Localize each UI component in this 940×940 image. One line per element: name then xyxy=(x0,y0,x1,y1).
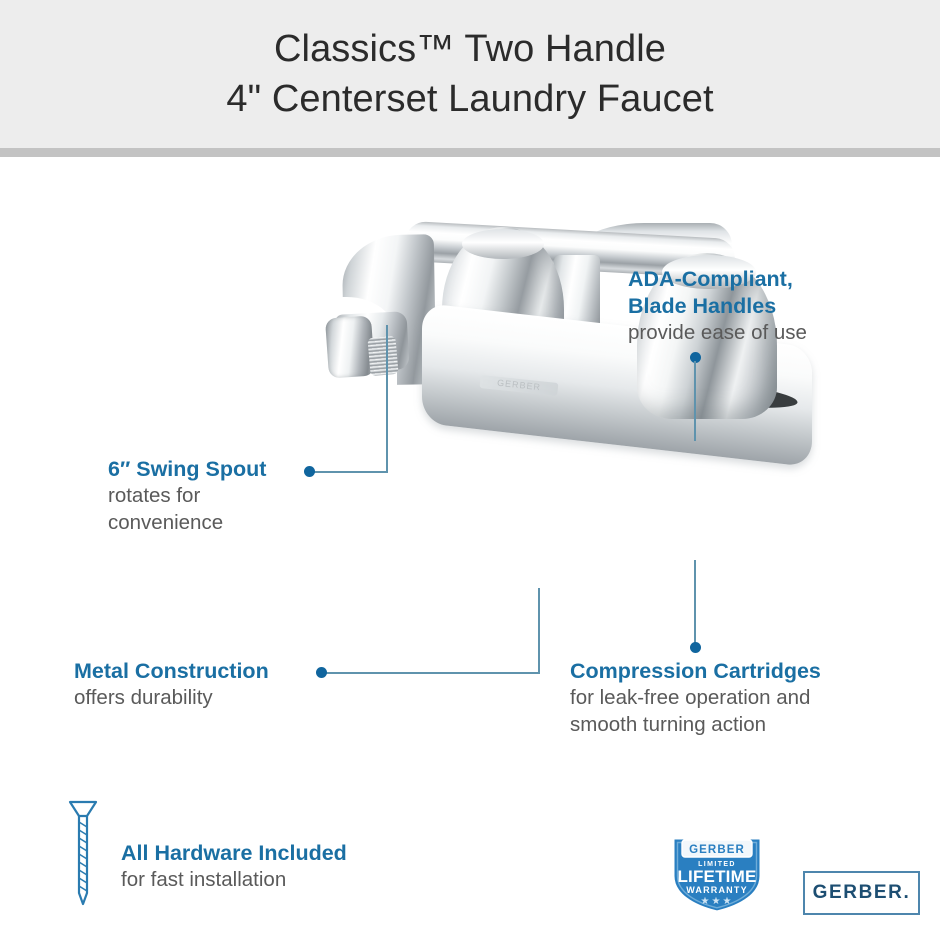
callout-sub-line-1: rotates for xyxy=(108,483,266,510)
gerber-logo-text: GERBER. xyxy=(813,882,911,904)
connector-segment-vertical xyxy=(694,361,696,441)
connector-dot-metal-construction xyxy=(316,667,327,678)
connector-metal-construction xyxy=(310,588,550,683)
connector-segment-vertical xyxy=(386,325,388,473)
gerber-logo: GERBER. xyxy=(803,871,920,915)
callout-heading-line-1: 6″ Swing Spout xyxy=(108,456,266,483)
lifetime-warranty-badge: GERBER LIMITED LIFETIME WARRANTY ★★★ xyxy=(668,832,766,916)
callout-heading-line-1: All Hardware Included xyxy=(121,840,347,867)
header-divider xyxy=(0,148,940,157)
badge-stars: ★★★ xyxy=(701,896,734,907)
connector-segment-vertical xyxy=(538,588,540,674)
callout-sub-line-1: provide ease of use xyxy=(628,320,807,347)
callout-compression-cartridges: Compression Cartridges for leak-free ope… xyxy=(570,658,821,738)
product-infographic: Classics™ Two Handle 4" Centerset Laundr… xyxy=(0,0,940,940)
callout-sub-line-1: for leak-free operation and xyxy=(570,685,821,712)
badge-lifetime-text: LIFETIME xyxy=(677,867,756,886)
page-title-line-1: Classics™ Two Handle xyxy=(274,24,666,74)
callout-heading-line-1: Metal Construction xyxy=(74,658,269,685)
connector-dot-compression-cartridges xyxy=(690,642,701,653)
badge-warranty-text: WARRANTY xyxy=(686,885,748,895)
connector-compression-cartridges xyxy=(690,560,704,658)
callout-swing-spout: 6″ Swing Spout rotates for convenience xyxy=(108,456,266,536)
page-title-text-2: 4" Centerset Laundry Faucet xyxy=(226,78,713,120)
connector-ada-handles xyxy=(690,352,704,442)
callout-heading-line-1: ADA-Compliant, xyxy=(628,266,807,293)
callout-heading-line-1: Compression Cartridges xyxy=(570,658,821,685)
connector-dot-swing-spout xyxy=(304,466,315,477)
callout-metal-construction: Metal Construction offers durability xyxy=(74,658,269,712)
callout-heading-line-2: Blade Handles xyxy=(628,293,807,320)
connector-swing-spout xyxy=(300,325,395,480)
page-title-line-2: 4" Centerset Laundry Faucet xyxy=(226,74,713,124)
connector-segment-vertical xyxy=(694,560,696,646)
page-title-text-1: Classics™ Two Handle xyxy=(274,28,666,70)
badge-brand-text: GERBER xyxy=(689,844,745,856)
callout-ada-compliant-blade-handles: ADA-Compliant, Blade Handles provide eas… xyxy=(628,266,807,347)
callout-sub-line-2: convenience xyxy=(108,510,266,537)
callout-sub-line-2: smooth turning action xyxy=(570,712,821,739)
callout-sub-line-1: offers durability xyxy=(74,685,269,712)
connector-segment-horizontal xyxy=(310,471,388,473)
screw-icon xyxy=(66,798,100,910)
callout-all-hardware-included: All Hardware Included for fast installat… xyxy=(121,840,347,894)
callout-sub-line-1: for fast installation xyxy=(121,867,347,894)
connector-segment-horizontal xyxy=(322,672,540,674)
faucet-handle-left-cap xyxy=(462,229,544,259)
header: Classics™ Two Handle 4" Centerset Laundr… xyxy=(0,0,940,148)
